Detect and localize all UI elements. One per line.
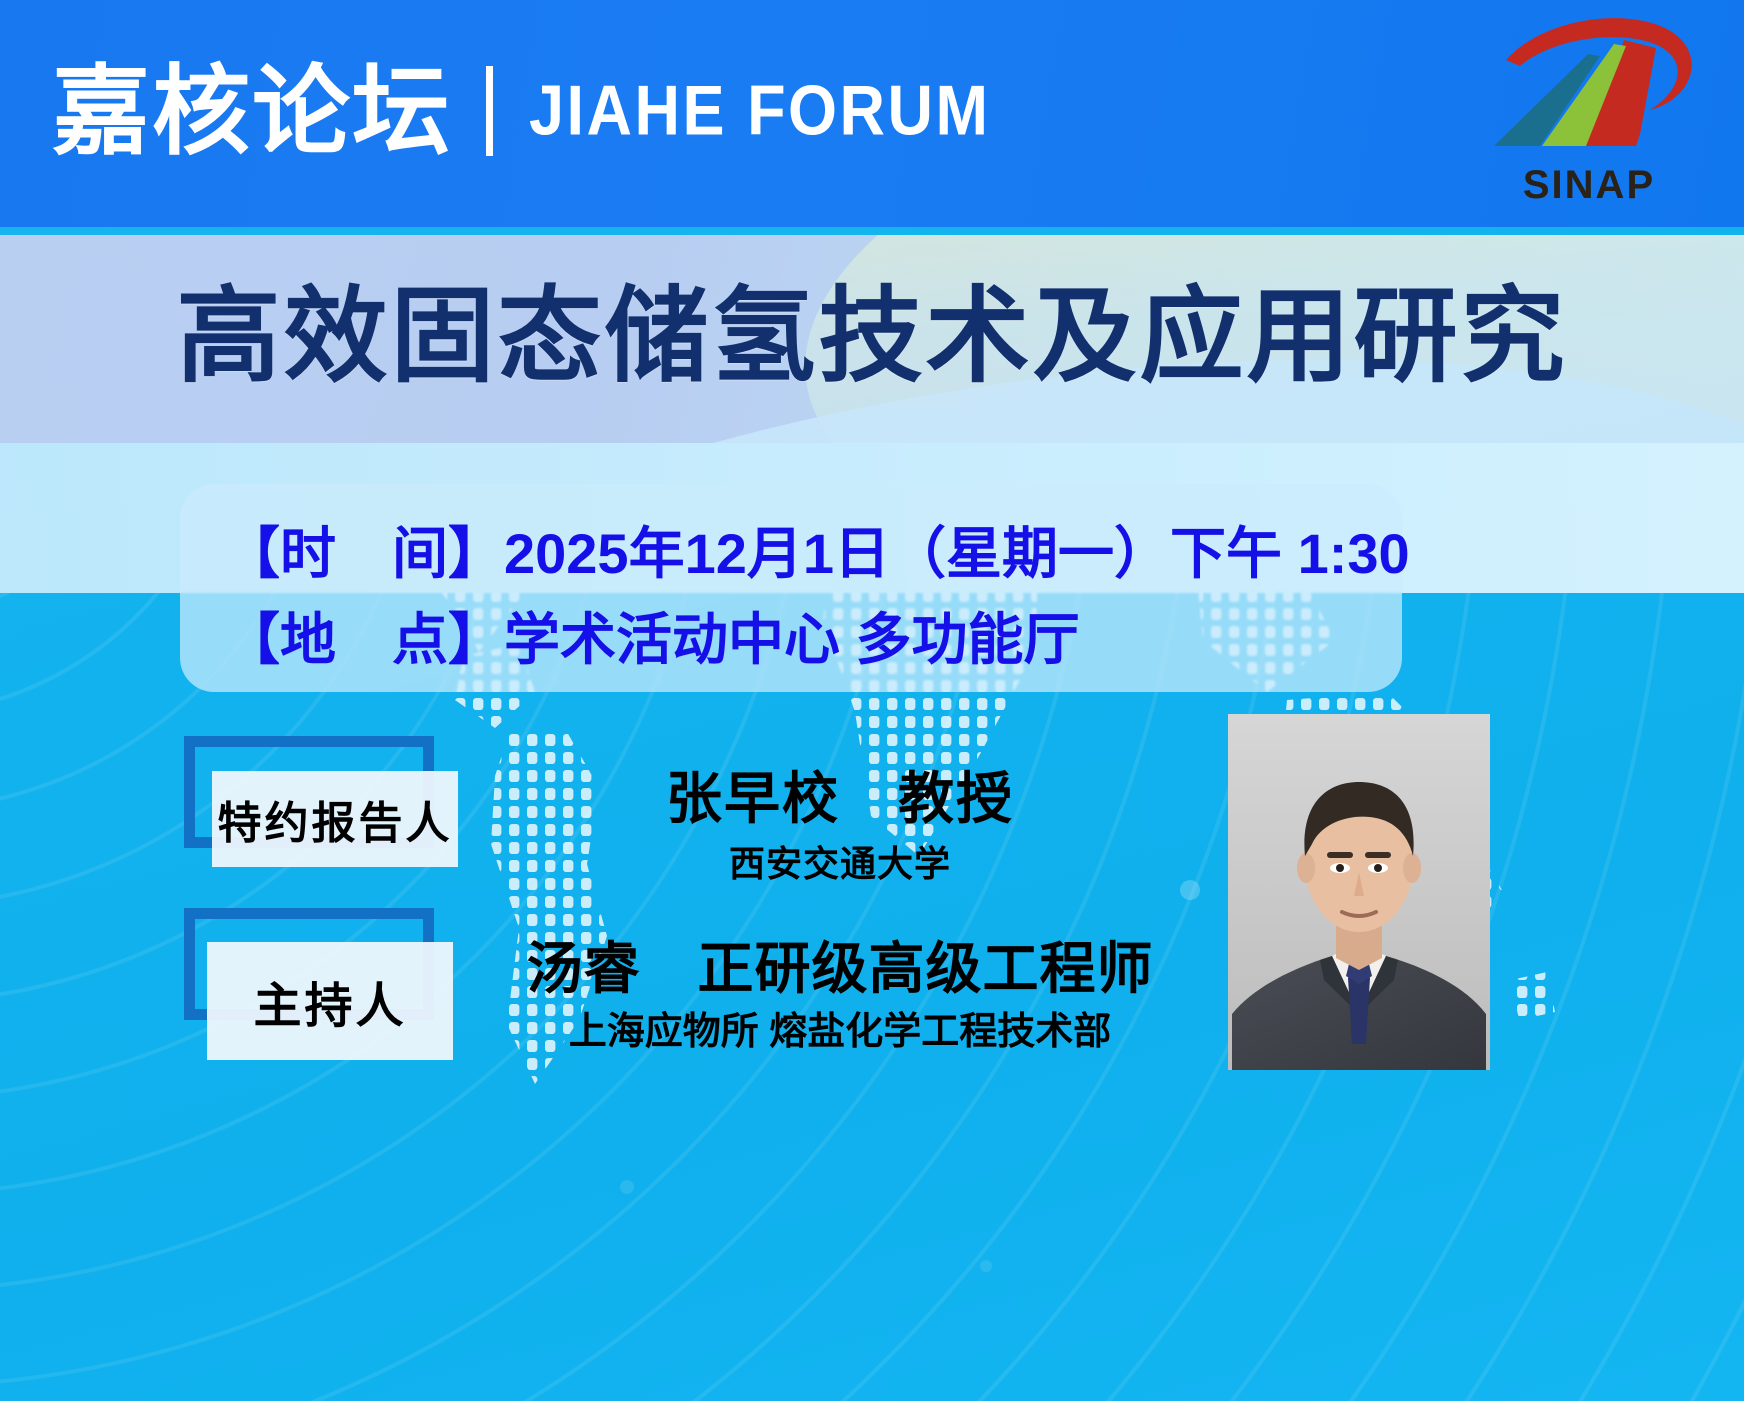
brand-separator [486, 66, 493, 156]
speaker-portrait [1228, 714, 1490, 1070]
host-tag: 主持人 [207, 942, 453, 1060]
speaker-tag: 特约报告人 [212, 771, 458, 867]
title-band: 高效固态储氢技术及应用研究 [0, 235, 1744, 443]
brand-name-chinese: 嘉核论坛 [52, 62, 452, 160]
sinap-logo: SINAP [1464, 14, 1714, 214]
brand-lockup: 嘉核论坛 JIAHE FORUM [52, 62, 991, 160]
page-title: 高效固态储氢技术及应用研究 [0, 285, 1744, 389]
speaker-organization: 西安交通大学 [520, 845, 1160, 883]
sinap-logo-mark [1464, 14, 1714, 174]
header-bar: 嘉核论坛 JIAHE FORUM SINAP [0, 0, 1744, 227]
speaker-name: 张早校 教授 [520, 770, 1160, 829]
speaker-info: 张早校 教授 西安交通大学 [520, 770, 1160, 883]
event-poster: 高效固态储氢技术及应用研究 嘉核论坛 JIAHE FORUM S [0, 0, 1744, 1401]
brand-name-english: JIAHE FORUM [529, 76, 991, 147]
event-place-line: 【地 点】学术活动中心 多功能厅 [224, 612, 1080, 668]
host-organization: 上海应物所 熔盐化学工程技术部 [480, 1013, 1200, 1053]
host-info: 汤睿 正研级高级工程师 上海应物所 熔盐化学工程技术部 [480, 940, 1200, 1053]
sinap-logo-text: SINAP [1464, 163, 1714, 208]
host-name: 汤睿 正研级高级工程师 [480, 940, 1200, 999]
speaker-portrait-image [1228, 714, 1490, 1070]
event-time-line: 【时 间】2025年12月1日（星期一）下午 1:30 [224, 526, 1410, 582]
event-info-panel: 【时 间】2025年12月1日（星期一）下午 1:30 【地 点】学术活动中心 … [180, 484, 1402, 692]
